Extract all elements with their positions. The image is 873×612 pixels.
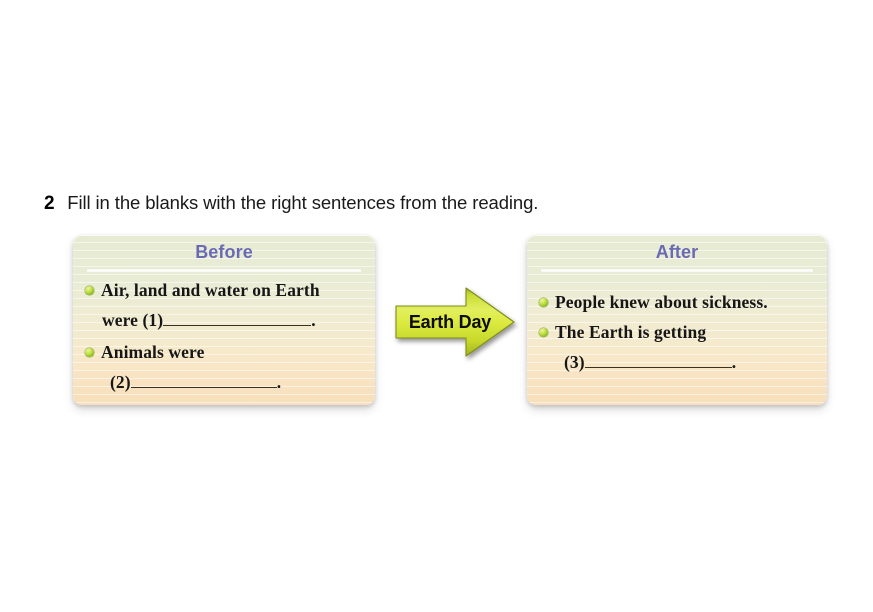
- before-card: Before Air, land and water on Earth were…: [73, 235, 375, 405]
- blank-input-3[interactable]: [585, 351, 732, 368]
- blank-suffix-2: .: [277, 372, 281, 392]
- earth-day-arrow: Earth Day: [394, 286, 516, 358]
- list-item-text: Animals were: [101, 337, 204, 367]
- blank-suffix-3: .: [732, 352, 736, 372]
- after-card: After People knew about sickness. The Ea…: [527, 235, 827, 405]
- bullet-dot-icon: [539, 298, 548, 307]
- blank-prefix-3: (3): [564, 352, 585, 372]
- blank-suffix-1: .: [311, 310, 315, 330]
- before-card-title: Before: [73, 242, 375, 263]
- list-item: Animals were: [85, 337, 363, 367]
- after-card-body: People knew about sickness. The Earth is…: [527, 287, 827, 405]
- list-item-text: People knew about sickness.: [555, 287, 768, 317]
- list-item-continuation: (3).: [539, 347, 815, 379]
- exercise-instruction-text: Fill in the blanks with the right senten…: [67, 192, 538, 214]
- list-item: The Earth is getting: [539, 317, 815, 347]
- bullet-dot-icon: [85, 286, 94, 295]
- bullet-dot-icon: [539, 328, 548, 337]
- blank-prefix-1: were (1): [102, 310, 163, 330]
- before-card-body: Air, land and water on Earth were (1). A…: [73, 275, 375, 405]
- blank-input-1[interactable]: [163, 309, 311, 326]
- after-card-title: After: [527, 242, 827, 263]
- list-item-text: The Earth is getting: [555, 317, 706, 347]
- list-item: People knew about sickness.: [539, 287, 815, 317]
- arrow-shape: [396, 288, 514, 356]
- list-item-text: Air, land and water on Earth: [101, 275, 320, 305]
- before-card-divider: [87, 269, 361, 272]
- blank-input-2[interactable]: [131, 371, 277, 388]
- list-item-continuation: were (1).: [85, 305, 363, 337]
- bullet-dot-icon: [85, 348, 94, 357]
- list-item: Air, land and water on Earth: [85, 275, 363, 305]
- blank-prefix-2: (2): [110, 372, 131, 392]
- after-card-divider: [541, 269, 813, 272]
- exercise-number: 2: [44, 193, 54, 215]
- list-item-continuation: (2).: [85, 367, 363, 399]
- arrow-right-icon: [394, 286, 516, 358]
- exercise-instruction-row: 2 Fill in the blanks with the right sent…: [44, 192, 538, 215]
